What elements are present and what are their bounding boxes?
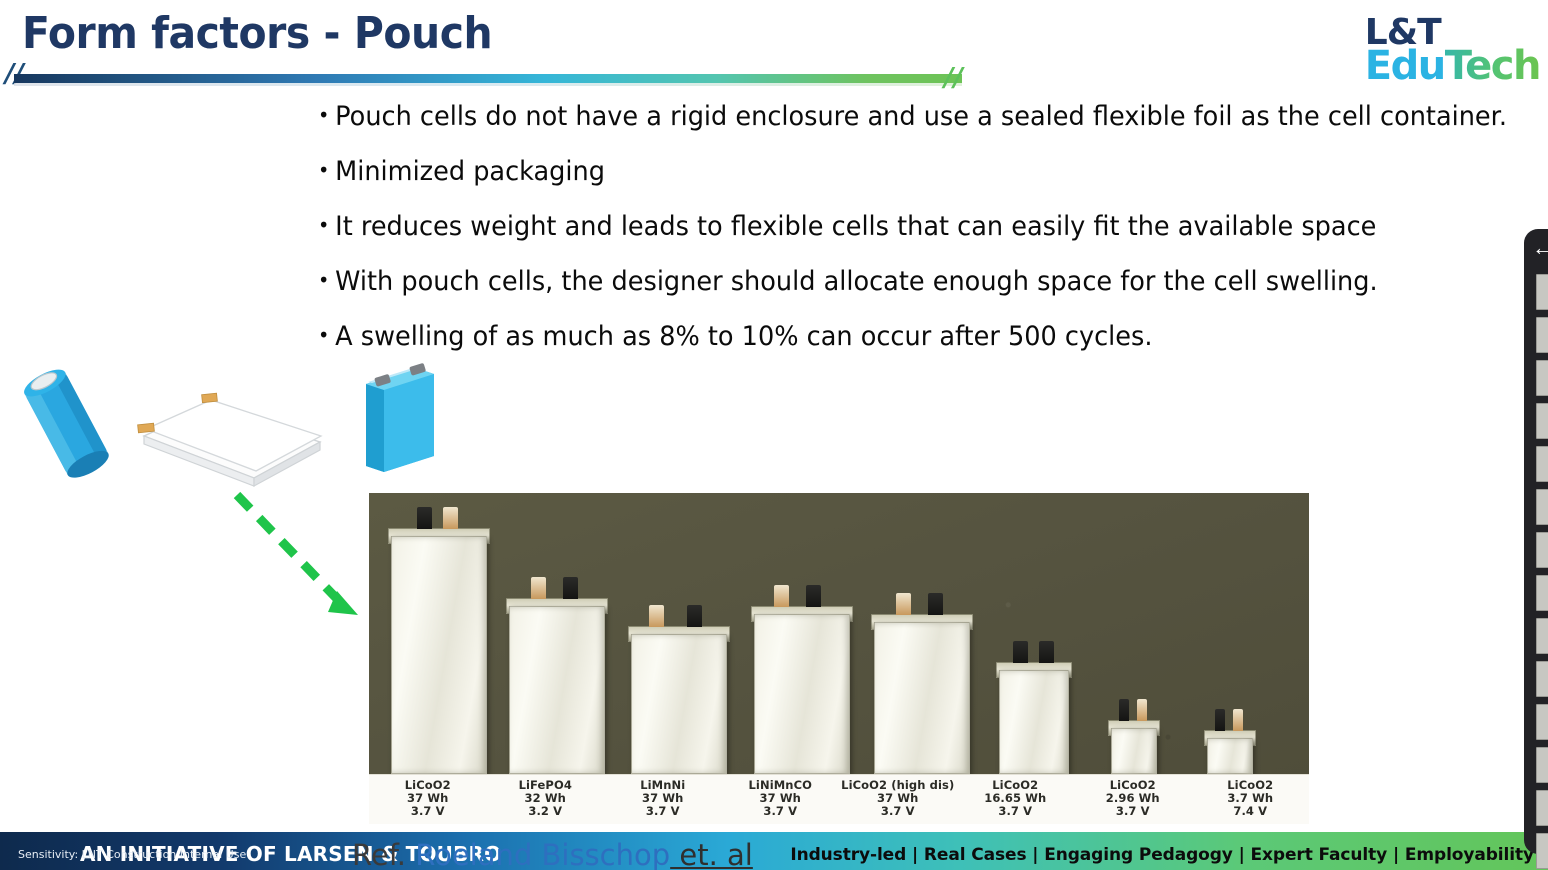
- photo-cell: [631, 622, 727, 774]
- cell-caption: LiMnNi 37 Wh 3.7 V: [604, 779, 722, 819]
- cell-tab-negative: [928, 593, 943, 615]
- slide-thumbnail[interactable]: [1536, 446, 1548, 482]
- cell-voltage: 3.7 V: [722, 805, 840, 818]
- slide-thumbnail[interactable]: [1536, 747, 1548, 783]
- photo-cell: [874, 610, 970, 774]
- cell-body: [1207, 738, 1253, 774]
- reference-suffix: et. al: [670, 838, 753, 870]
- slide-thumbnail[interactable]: [1536, 618, 1548, 654]
- photo-cell: [754, 602, 850, 774]
- slide-thumbnail[interactable]: [1536, 704, 1548, 740]
- cell-tab-positive: [443, 507, 458, 529]
- list-item: •A swelling of as much as 8% to 10% can …: [318, 323, 1490, 351]
- cell-tab-positive: [896, 593, 911, 615]
- cell-voltage: 3.2 V: [487, 805, 605, 818]
- cell-tab-positive: [1233, 709, 1243, 731]
- reference-prefix: Ref.: [352, 838, 415, 870]
- title-gradient-rule: [14, 74, 962, 83]
- cell-body: [509, 606, 605, 774]
- cell-tab-negative: [687, 605, 702, 627]
- bullet-dot-icon: •: [318, 268, 329, 292]
- slide-thumbnail[interactable]: [1536, 360, 1548, 396]
- cell-tab-negative: [1119, 699, 1129, 721]
- list-item: •Minimized packaging: [318, 158, 1490, 186]
- bullet-dot-icon: •: [318, 213, 329, 237]
- photo-cell: [999, 658, 1069, 774]
- reference-line: Ref. Roeland Bisschop et. al: [352, 838, 753, 870]
- bullet-text: It reduces weight and leads to flexible …: [335, 211, 1376, 242]
- slide-thumbnail[interactable]: [1536, 532, 1548, 568]
- cell-tab-negative: [1039, 641, 1054, 663]
- photo-cell: [509, 594, 605, 774]
- slide-thumbnail[interactable]: [1536, 661, 1548, 697]
- logo-tech-text: Tech: [1445, 43, 1540, 89]
- cell-caption: LiFePO4 32 Wh 3.2 V: [487, 779, 605, 819]
- footer-sensitivity-text: Sensitivity: LNT Construction Internal U…: [18, 848, 246, 861]
- slide-thumbnail[interactable]: [1536, 403, 1548, 439]
- cell-voltage: 3.7 V: [604, 805, 722, 818]
- bullet-dot-icon: •: [318, 158, 329, 182]
- cell-voltage: 3.7 V: [839, 805, 957, 818]
- cell-caption: LiCoO2 (high dis) 37 Wh 3.7 V: [839, 779, 957, 819]
- cell-tab-positive: [649, 605, 664, 627]
- slide-thumbnail[interactable]: [1536, 317, 1548, 353]
- panel-collapse-arrow-icon[interactable]: ←: [1529, 234, 1548, 262]
- green-dashed-arrow-icon: [225, 485, 370, 630]
- slide-thumbnail[interactable]: [1536, 489, 1548, 525]
- cell-body: [1111, 728, 1157, 774]
- cell-caption: LiCoO2 3.7 Wh 7.4 V: [1192, 779, 1310, 819]
- cell-tab-positive: [774, 585, 789, 607]
- cell-body: [631, 634, 727, 774]
- cell-voltage: 7.4 V: [1192, 805, 1310, 818]
- slide-thumbnail[interactable]: [1536, 790, 1548, 826]
- bullet-dot-icon: •: [318, 103, 329, 127]
- cell-caption: LiCoO2 16.65 Wh 3.7 V: [957, 779, 1075, 819]
- slide-thumbnail[interactable]: [1536, 833, 1548, 869]
- photo-cell: [391, 524, 487, 774]
- cell-tab-positive: [1137, 699, 1147, 721]
- prismatic-cell-icon: [358, 362, 442, 477]
- bullet-list: •Pouch cells do not have a rigid enclosu…: [318, 103, 1533, 378]
- photo-cell-group: [369, 493, 1309, 774]
- cell-caption: LiCoO2 37 Wh 3.7 V: [369, 779, 487, 819]
- title-rule-right-tick-icon: //: [944, 66, 966, 90]
- photo-cell: [1111, 716, 1157, 774]
- pouch-cell-icon: [132, 386, 327, 496]
- title-rule-shadow: [14, 83, 962, 86]
- cell-tab-negative: [1013, 641, 1028, 663]
- cell-tab-negative: [1215, 709, 1225, 731]
- cell-voltage: 3.7 V: [957, 805, 1075, 818]
- slide-thumbnail[interactable]: [1536, 575, 1548, 611]
- cell-body: [391, 536, 487, 774]
- cell-body: [999, 670, 1069, 774]
- pouch-cells-photo: LiCoO2 37 Wh 3.7 V LiFePO4 32 Wh 3.2 V L…: [369, 493, 1309, 832]
- lnt-edutech-logo: L&T EduTech: [1365, 18, 1540, 83]
- bullet-dot-icon: •: [318, 323, 329, 347]
- bullet-text: Pouch cells do not have a rigid enclosur…: [335, 101, 1507, 132]
- cell-caption: LiCoO2 2.96 Wh 3.7 V: [1074, 779, 1192, 819]
- cell-caption: LiNiMnCO 37 Wh 3.7 V: [722, 779, 840, 819]
- list-item: •It reduces weight and leads to flexible…: [318, 213, 1490, 241]
- bullet-text: With pouch cells, the designer should al…: [335, 266, 1377, 297]
- cell-body: [754, 614, 850, 774]
- bullet-text: Minimized packaging: [335, 156, 605, 187]
- cell-voltage: 3.7 V: [1074, 805, 1192, 818]
- logo-edu-text: Edu: [1365, 43, 1445, 89]
- reference-link[interactable]: Roeland Bisschop: [415, 838, 670, 870]
- cell-tab-negative: [417, 507, 432, 529]
- cell-tab-negative: [563, 577, 578, 599]
- page-title: Form factors - Pouch: [22, 8, 492, 59]
- cell-voltage: 3.7 V: [369, 805, 487, 818]
- list-item: •Pouch cells do not have a rigid enclosu…: [318, 103, 1490, 131]
- cell-tab-negative: [806, 585, 821, 607]
- slide-canvas: Form factors - Pouch // // L&T EduTech •…: [0, 0, 1548, 870]
- list-item: •With pouch cells, the designer should a…: [318, 268, 1490, 296]
- slide-thumbnail-strip[interactable]: [1536, 274, 1548, 870]
- footer-tagline-text: Industry-led | Real Cases | Engaging Ped…: [790, 845, 1534, 865]
- cell-body: [874, 622, 970, 774]
- photo-cell: [1207, 726, 1253, 774]
- cell-tab-positive: [531, 577, 546, 599]
- logo-edutech-text: EduTech: [1365, 49, 1540, 83]
- slide-thumbnail[interactable]: [1536, 274, 1548, 310]
- cylindrical-cell-icon: [0, 356, 130, 486]
- bullet-text: A swelling of as much as 8% to 10% can o…: [335, 321, 1152, 352]
